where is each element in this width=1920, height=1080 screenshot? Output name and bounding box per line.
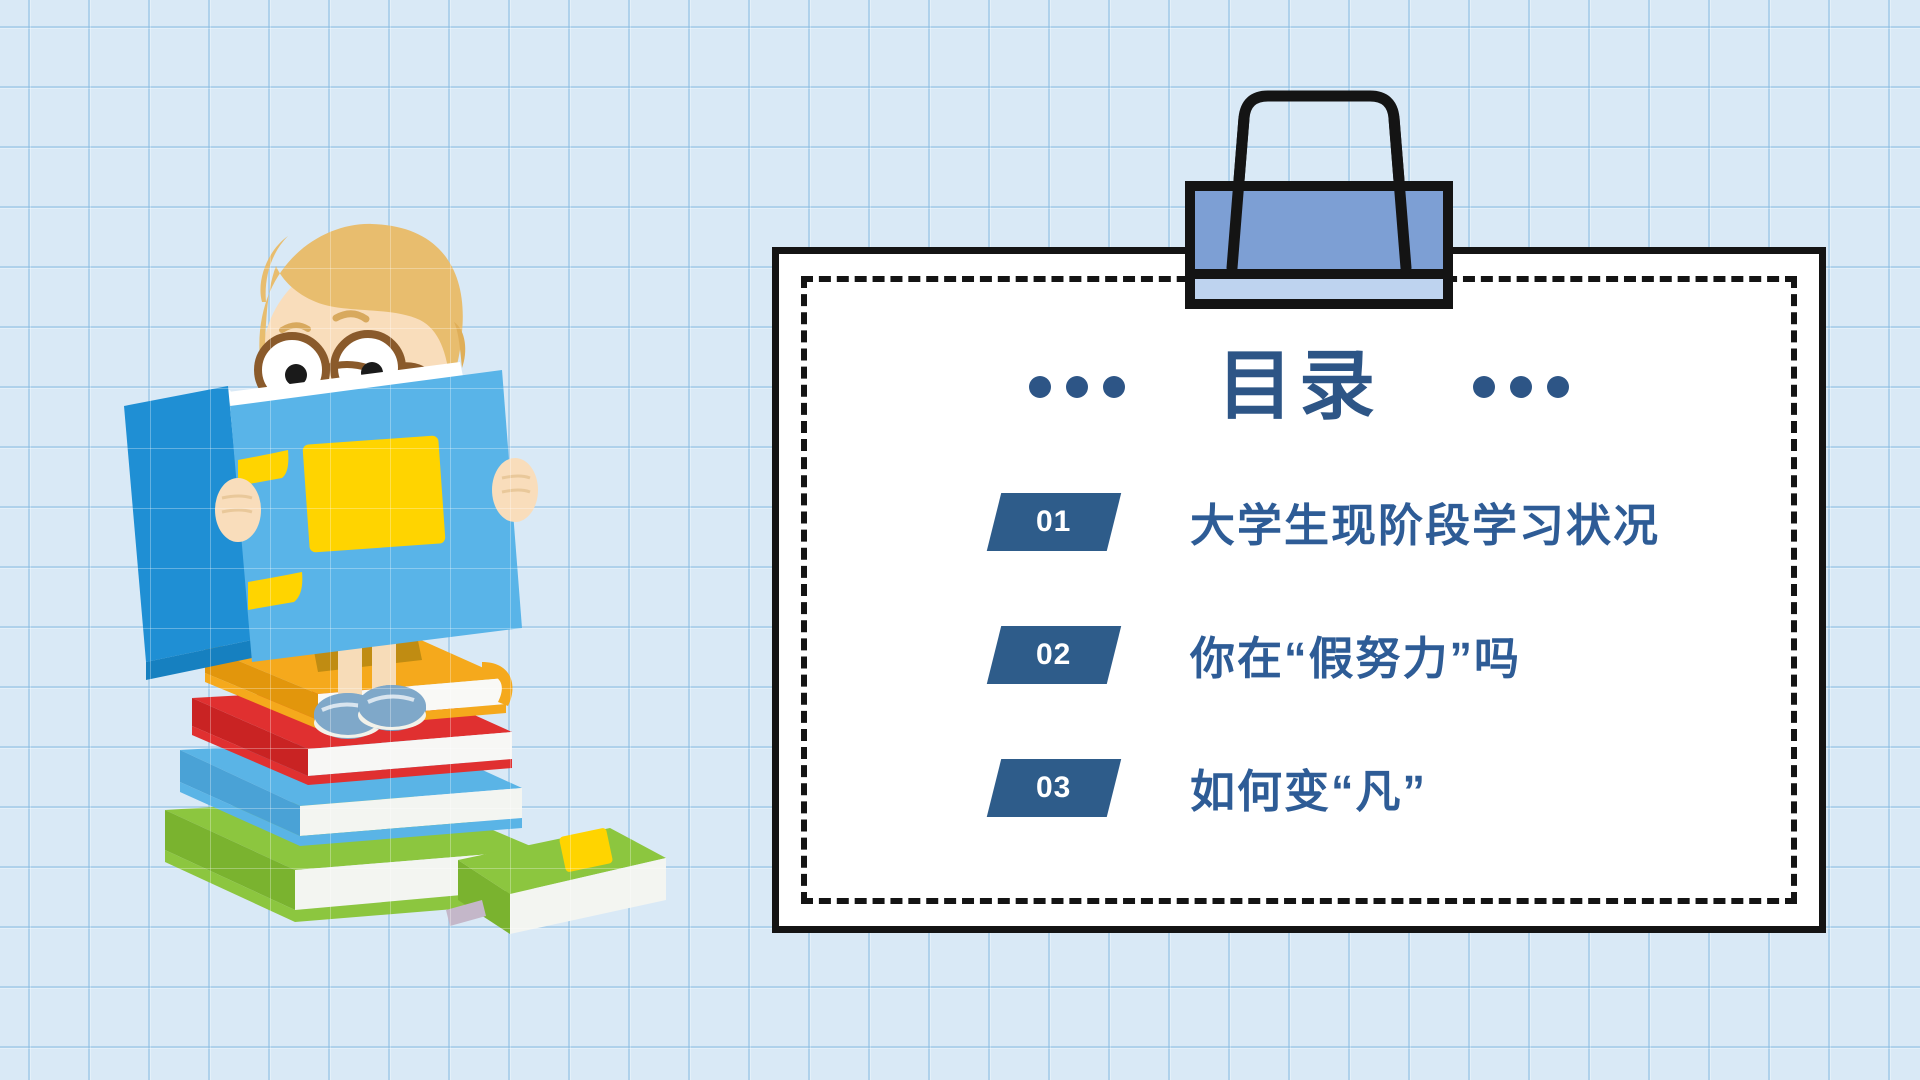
item-number: 01 <box>1036 505 1071 539</box>
contents-list: 01 大学生现阶段学习状况 02 你在“假努力”吗 03 如何变“凡” <box>994 489 1759 820</box>
page-title: 目录 <box>1217 349 1381 425</box>
item-label[interactable]: 大学生现阶段学习状况 <box>1190 489 1660 554</box>
dot-icon <box>1066 376 1088 398</box>
left-dots-decoration <box>1029 376 1125 398</box>
dot-icon <box>1510 376 1532 398</box>
open-blue-book <box>124 362 538 680</box>
slide-canvas: 目录 01 大学生现阶段学习状况 02 你在“假努力”吗 <box>0 0 1920 1080</box>
boy-reading-on-book-stack-illustration <box>110 210 670 950</box>
item-number-badge: 03 <box>987 759 1121 817</box>
list-item[interactable]: 02 你在“假努力”吗 <box>994 622 1759 687</box>
item-label[interactable]: 你在“假努力”吗 <box>1190 622 1521 687</box>
item-number: 03 <box>1036 771 1071 805</box>
title-row: 目录 <box>779 349 1819 425</box>
item-number: 02 <box>1036 638 1071 672</box>
right-dots-decoration <box>1473 376 1569 398</box>
dot-icon <box>1029 376 1051 398</box>
dot-icon <box>1547 376 1569 398</box>
dot-icon <box>1103 376 1125 398</box>
list-item[interactable]: 03 如何变“凡” <box>994 755 1759 820</box>
item-number-badge: 02 <box>987 626 1121 684</box>
item-number-badge: 01 <box>987 493 1121 551</box>
item-label[interactable]: 如何变“凡” <box>1190 755 1427 820</box>
contents-card: 目录 01 大学生现阶段学习状况 02 你在“假努力”吗 <box>772 247 1826 933</box>
clipboard-clip-bag-icon <box>1184 78 1454 310</box>
list-item[interactable]: 01 大学生现阶段学习状况 <box>994 489 1759 554</box>
dot-icon <box>1473 376 1495 398</box>
